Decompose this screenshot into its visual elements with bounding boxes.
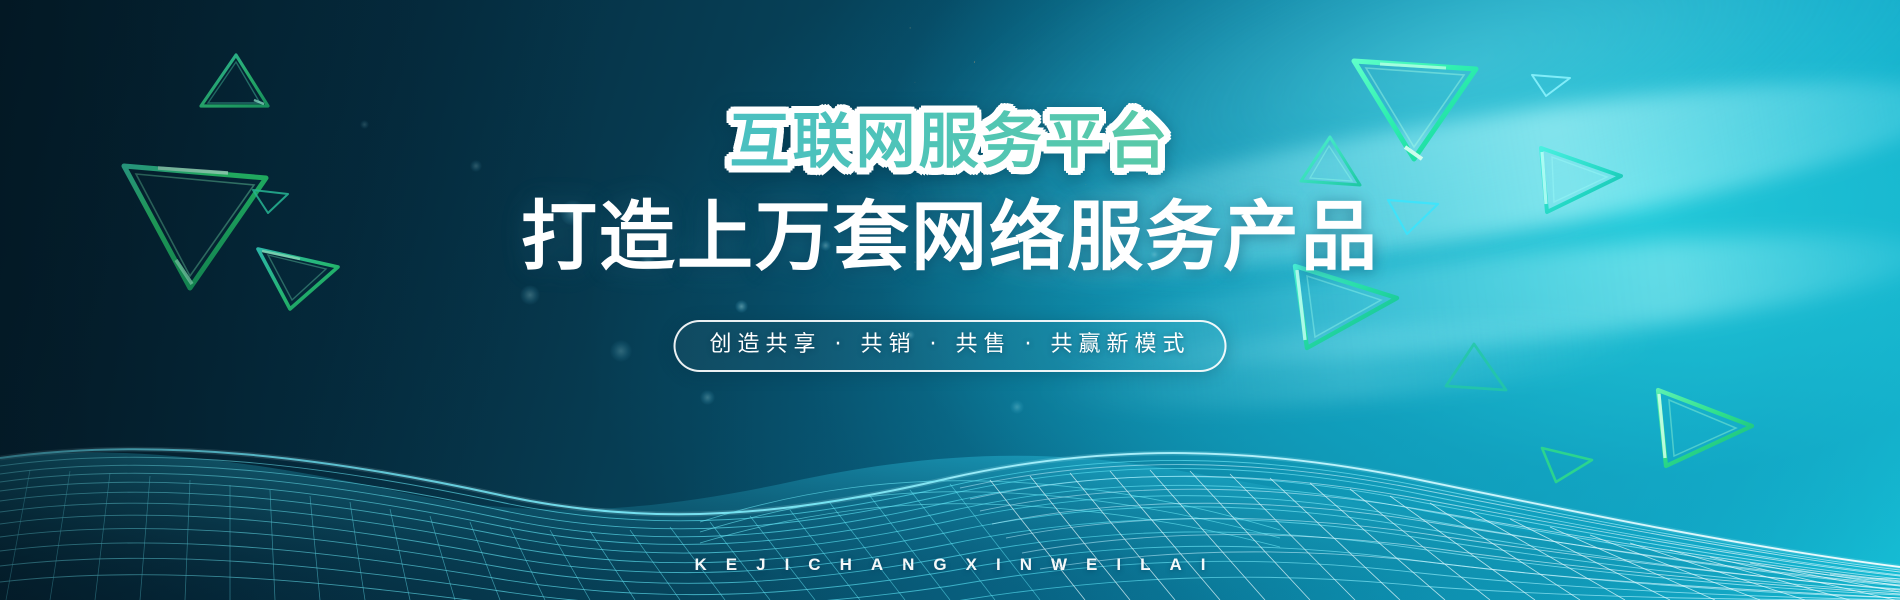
banner-content: 互联网服务平台 打造上万套网络服务产品 创造共享 · 共销 · 共售 · 共赢新… [0,0,1900,600]
page-headline: 打造上万套网络服务产品 [0,192,1900,282]
hero-banner: 互联网服务平台 打造上万套网络服务产品 创造共享 · 共销 · 共售 · 共赢新… [0,0,1900,600]
tagline-badge: 创造共享 · 共销 · 共售 · 共赢新模式 [674,320,1227,372]
page-title: 互联网服务平台 [0,110,1900,174]
pinyin-caption: KEJICHANGXINWEILAI [0,555,1900,575]
